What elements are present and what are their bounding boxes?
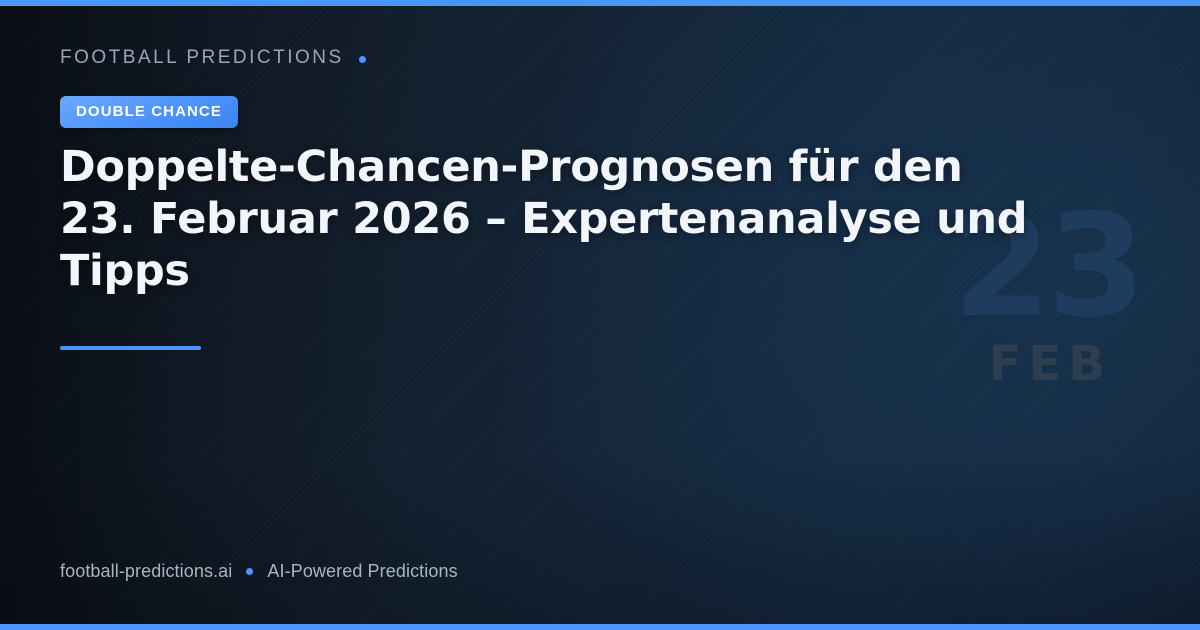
eyebrow-label: FOOTBALL PREDICTIONS bbox=[60, 47, 344, 69]
title-underline-divider bbox=[60, 346, 201, 350]
footer: football-predictions.ai AI-Powered Predi… bbox=[60, 561, 458, 582]
status-badge: DOUBLE CHANCE bbox=[60, 96, 238, 128]
eyebrow: FOOTBALL PREDICTIONS bbox=[60, 47, 366, 69]
bottom-accent-bar bbox=[0, 624, 1200, 630]
footer-tagline: AI-Powered Predictions bbox=[267, 561, 457, 582]
card-content: FOOTBALL PREDICTIONS DOUBLE CHANCE Doppe… bbox=[60, 0, 1070, 630]
bullet-dot-icon bbox=[246, 568, 253, 575]
page-title: Doppelte-Chancen-Prognosen für den 23. F… bbox=[60, 141, 1050, 297]
bullet-dot-icon bbox=[359, 56, 366, 63]
top-accent-bar bbox=[0, 0, 1200, 6]
social-share-card: 23 FEB FOOTBALL PREDICTIONS DOUBLE CHANC… bbox=[0, 0, 1200, 630]
footer-site-name: football-predictions.ai bbox=[60, 561, 232, 582]
